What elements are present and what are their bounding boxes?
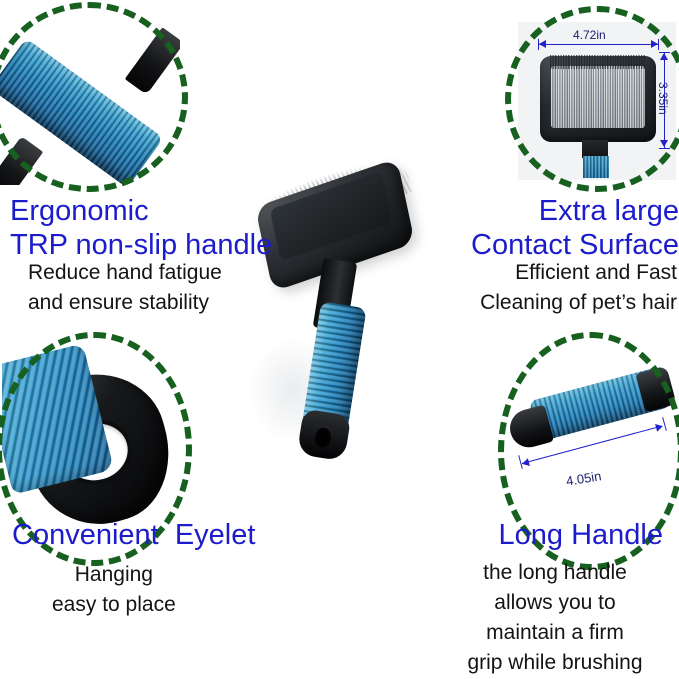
feature-title-contact-surface: Extra large Contact Surface — [471, 194, 679, 262]
head-width-label: 4.72in — [573, 28, 606, 42]
grip-end-cap-upper — [125, 27, 180, 95]
head-height-arrow-down — [660, 140, 668, 147]
head-width-arrow-right — [651, 40, 658, 48]
feature-body-ergonomic-handle: Reduce hand fatigue and ensure stability — [28, 258, 222, 318]
feature-body-contact-surface: Efficient and Fast Cleaning of pet’s hai… — [480, 258, 677, 318]
contact-surface-photo: 4.72in 3.35in — [518, 22, 676, 180]
ergonomic-handle-photo — [0, 10, 180, 185]
head-width-tick-right — [658, 39, 659, 50]
head-width-arrow-left — [539, 40, 546, 48]
feature-title-ergonomic-handle: Ergonomic TRP non-slip handle — [10, 194, 272, 262]
feature-title-long-handle: Long Handle — [499, 518, 663, 552]
feature-body-long-handle: the long handle allows you to maintain a… — [439, 558, 671, 678]
head-height-label: 3.35in — [656, 82, 670, 115]
head-height-tick-bottom — [659, 148, 670, 149]
head-width-dimension-line — [538, 44, 658, 45]
brush-head-pin-pad — [551, 66, 645, 128]
eyelet-blue-ribbed-pad — [2, 343, 114, 494]
handle-length-label: 4.05in — [565, 468, 602, 488]
grip-end-cap-lower — [0, 136, 43, 185]
handle-length-arrow-left — [521, 458, 530, 468]
handle-length-arrow-right — [655, 422, 664, 432]
brush-head-pin-fringe — [550, 55, 646, 69]
product-infographic: 4.72in 3.35in 4.05in — [0, 0, 679, 679]
main-product-photo — [238, 140, 468, 470]
feature-body-convenient-eyelet: Hanging easy to place — [52, 560, 176, 620]
brush-head-grip-stub — [583, 156, 609, 178]
head-height-arrow-up — [660, 53, 668, 60]
feature-title-convenient-eyelet: Convenient Eyelet — [12, 518, 255, 552]
